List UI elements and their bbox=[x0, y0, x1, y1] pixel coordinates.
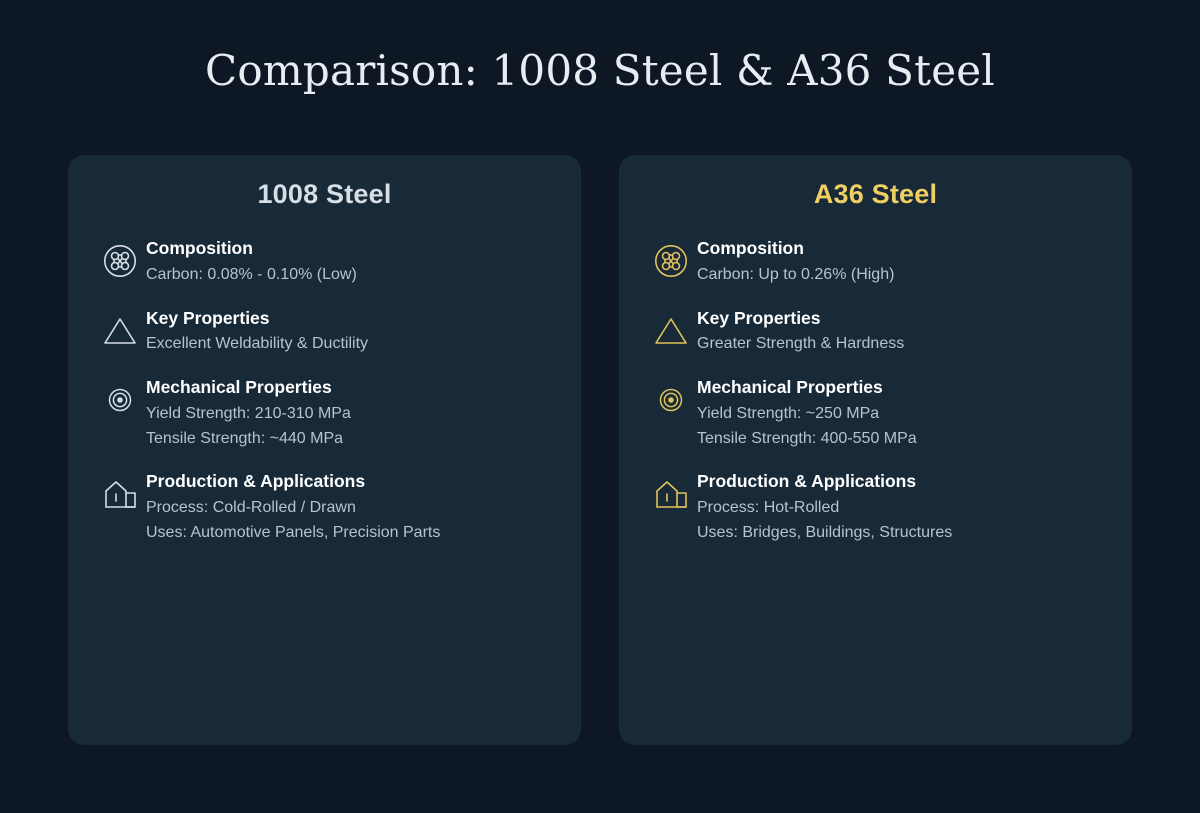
feature-row-key-properties: Key Properties Excellent Weldability & D… bbox=[94, 304, 555, 358]
feature-line: Uses: Bridges, Buildings, Structures bbox=[697, 521, 952, 546]
feature-row-composition: Composition Carbon: Up to 0.26% (High) bbox=[645, 234, 1106, 288]
comparison-infographic: Comparison: 1008 Steel & A36 Steel 1008 … bbox=[0, 0, 1200, 813]
feature-row-key-properties: Key Properties Greater Strength & Hardne… bbox=[645, 304, 1106, 358]
feature-heading: Key Properties bbox=[146, 307, 368, 330]
card-1008-steel: 1008 Steel Composition Ca bbox=[68, 155, 581, 745]
feature-text-composition: Composition Carbon: Up to 0.26% (High) bbox=[697, 234, 894, 288]
feature-line: Yield Strength: 210-310 MPa bbox=[146, 402, 351, 427]
feature-heading: Composition bbox=[697, 237, 894, 260]
triangle-icon bbox=[645, 304, 697, 356]
feature-text-composition: Composition Carbon: 0.08% - 0.10% (Low) bbox=[146, 234, 357, 288]
page-title: Comparison: 1008 Steel & A36 Steel bbox=[0, 46, 1200, 95]
feature-text-key-properties: Key Properties Excellent Weldability & D… bbox=[146, 304, 368, 358]
feature-text-mechanical-properties: Mechanical Properties Yield Strength: ~2… bbox=[697, 373, 917, 451]
feature-heading: Production & Applications bbox=[146, 470, 440, 493]
feature-line: Yield Strength: ~250 MPa bbox=[697, 402, 917, 427]
feature-line: Excellent Weldability & Ductility bbox=[146, 332, 368, 357]
feature-text-production-applications: Production & Applications Process: Hot-R… bbox=[697, 467, 952, 545]
card-title-a36-steel: A36 Steel bbox=[645, 179, 1106, 210]
feature-line: Carbon: 0.08% - 0.10% (Low) bbox=[146, 263, 357, 288]
feature-line: Process: Hot-Rolled bbox=[697, 496, 952, 521]
feature-heading: Mechanical Properties bbox=[146, 376, 351, 399]
feature-row-production-applications: Production & Applications Process: Hot-R… bbox=[645, 467, 1106, 545]
feature-heading: Composition bbox=[146, 237, 357, 260]
feature-heading: Key Properties bbox=[697, 307, 904, 330]
feature-row-mechanical-properties: Mechanical Properties Yield Strength: ~2… bbox=[645, 373, 1106, 451]
target-circles-icon bbox=[645, 373, 697, 425]
molecule-circle-icon bbox=[645, 234, 697, 286]
feature-text-key-properties: Key Properties Greater Strength & Hardne… bbox=[697, 304, 904, 358]
triangle-icon bbox=[94, 304, 146, 356]
feature-row-mechanical-properties: Mechanical Properties Yield Strength: 21… bbox=[94, 373, 555, 451]
feature-heading: Production & Applications bbox=[697, 470, 952, 493]
target-circles-icon bbox=[94, 373, 146, 425]
feature-line: Uses: Automotive Panels, Precision Parts bbox=[146, 521, 440, 546]
feature-text-mechanical-properties: Mechanical Properties Yield Strength: 21… bbox=[146, 373, 351, 451]
factory-buildings-icon bbox=[645, 467, 697, 519]
feature-line: Tensile Strength: ~440 MPa bbox=[146, 427, 351, 452]
factory-buildings-icon bbox=[94, 467, 146, 519]
feature-row-composition: Composition Carbon: 0.08% - 0.10% (Low) bbox=[94, 234, 555, 288]
card-a36-steel: A36 Steel Composition Car bbox=[619, 155, 1132, 745]
feature-line: Greater Strength & Hardness bbox=[697, 332, 904, 357]
feature-text-production-applications: Production & Applications Process: Cold-… bbox=[146, 467, 440, 545]
feature-line: Process: Cold-Rolled / Drawn bbox=[146, 496, 440, 521]
card-title-1008-steel: 1008 Steel bbox=[94, 179, 555, 210]
feature-line: Carbon: Up to 0.26% (High) bbox=[697, 263, 894, 288]
feature-heading: Mechanical Properties bbox=[697, 376, 917, 399]
feature-line: Tensile Strength: 400-550 MPa bbox=[697, 427, 917, 452]
feature-row-production-applications: Production & Applications Process: Cold-… bbox=[94, 467, 555, 545]
comparison-cards-row: 1008 Steel Composition Ca bbox=[68, 155, 1132, 745]
molecule-circle-icon bbox=[94, 234, 146, 286]
